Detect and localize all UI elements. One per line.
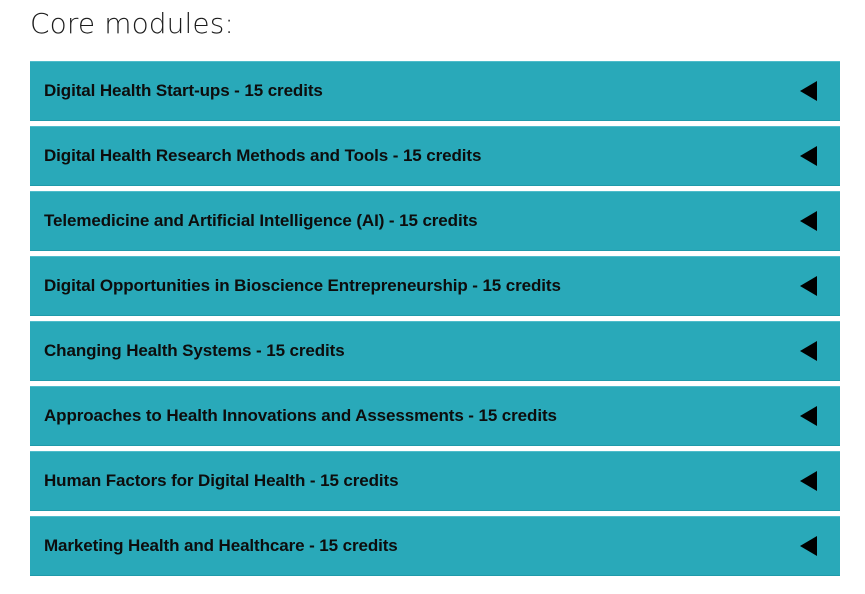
- accordion-item-label: Changing Health Systems - 15 credits: [44, 341, 345, 361]
- accordion-item-label: Digital Health Research Methods and Tool…: [44, 146, 481, 166]
- triangle-left-icon[interactable]: [794, 274, 818, 298]
- triangle-left-icon[interactable]: [794, 209, 818, 233]
- triangle-left-icon[interactable]: [794, 534, 818, 558]
- triangle-left-icon[interactable]: [794, 469, 818, 493]
- accordion-item-label: Approaches to Health Innovations and Ass…: [44, 406, 557, 426]
- accordion-item-digital-health-start-ups[interactable]: Digital Health Start-ups - 15 credits: [30, 61, 840, 121]
- accordion-item-changing-health-systems[interactable]: Changing Health Systems - 15 credits: [30, 321, 840, 381]
- accordion-item-label: Digital Opportunities in Bioscience Entr…: [44, 276, 561, 296]
- accordion-item-telemedicine-and-artificial-intelligence[interactable]: Telemedicine and Artificial Intelligence…: [30, 191, 840, 251]
- accordion-item-digital-health-research-methods-and-tools[interactable]: Digital Health Research Methods and Tool…: [30, 126, 840, 186]
- page-title: Core modules:: [30, 4, 234, 44]
- triangle-left-icon[interactable]: [794, 339, 818, 363]
- core-modules-page: Core modules: Digital Health Start-ups -…: [0, 0, 865, 594]
- triangle-left-icon[interactable]: [794, 404, 818, 428]
- accordion-item-label: Digital Health Start-ups - 15 credits: [44, 81, 323, 101]
- accordion-item-marketing-health-and-healthcare[interactable]: Marketing Health and Healthcare - 15 cre…: [30, 516, 840, 576]
- core-modules-accordion: Digital Health Start-ups - 15 credits Di…: [30, 61, 840, 576]
- accordion-item-digital-opportunities-in-bioscience-entrepreneurship[interactable]: Digital Opportunities in Bioscience Entr…: [30, 256, 840, 316]
- triangle-left-icon[interactable]: [794, 144, 818, 168]
- accordion-item-label: Telemedicine and Artificial Intelligence…: [44, 211, 478, 231]
- accordion-item-human-factors-for-digital-health[interactable]: Human Factors for Digital Health - 15 cr…: [30, 451, 840, 511]
- triangle-left-icon[interactable]: [794, 79, 818, 103]
- accordion-item-approaches-to-health-innovations-and-assessments[interactable]: Approaches to Health Innovations and Ass…: [30, 386, 840, 446]
- accordion-item-label: Marketing Health and Healthcare - 15 cre…: [44, 536, 398, 556]
- accordion-item-label: Human Factors for Digital Health - 15 cr…: [44, 471, 398, 491]
